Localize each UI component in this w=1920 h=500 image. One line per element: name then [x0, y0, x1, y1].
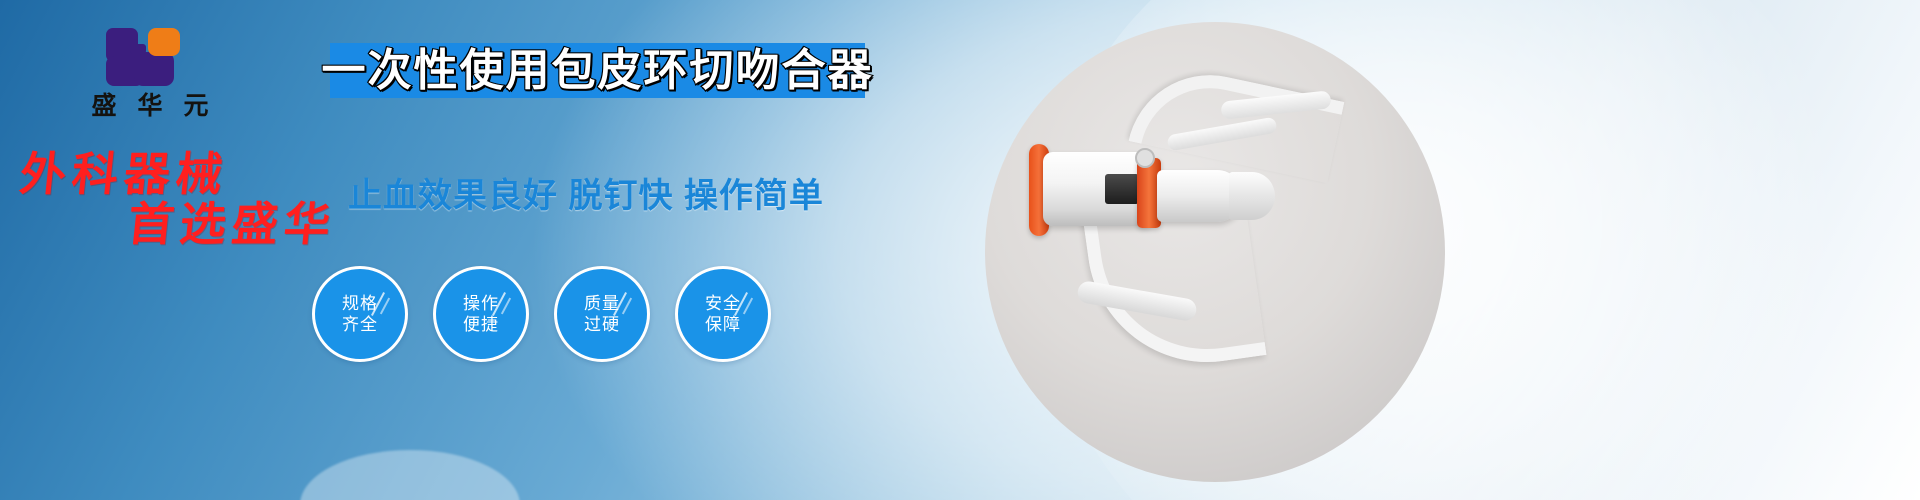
- slash-decoration-icon: [622, 298, 632, 315]
- slash-decoration-icon: [380, 298, 390, 315]
- feature-line-1: 质量: [584, 293, 620, 314]
- feature-circle[interactable]: 规格 齐全: [312, 266, 408, 362]
- logo-square-c: [134, 52, 174, 86]
- product-image: [985, 22, 1445, 482]
- promo-banner: 盛 华 元 外科器械 首选盛华 一次性使用包皮环切吻合器 止血效果良好 脱钉快 …: [0, 0, 1920, 500]
- slogan-line-1: 外科器械: [17, 150, 230, 198]
- feature-line-2: 齐全: [342, 314, 378, 335]
- feature-circle[interactable]: 安全 保障: [675, 266, 771, 362]
- product-pivot: [1135, 148, 1155, 168]
- feature-line-2: 便捷: [463, 314, 499, 335]
- calligraphy-slogan: 外科器械 首选盛华: [20, 150, 336, 249]
- brand-name: 盛 华 元: [60, 94, 240, 119]
- product-dark-band: [1105, 174, 1139, 204]
- logo-mark-icon: [104, 26, 196, 88]
- feature-circle-group: 规格 齐全 操作 便捷 质量 过硬 安全 保障: [312, 266, 771, 362]
- feature-circle[interactable]: 操作 便捷: [433, 266, 529, 362]
- logo-connector: [130, 44, 146, 54]
- feature-line-1: 操作: [463, 293, 499, 314]
- slash-decoration-icon: [501, 298, 511, 315]
- feature-line-1: 规格: [342, 293, 378, 314]
- feature-line-2: 保障: [705, 314, 741, 335]
- feature-line-1: 安全: [705, 293, 741, 314]
- feature-circle[interactable]: 质量 过硬: [554, 266, 650, 362]
- product-tip: [1229, 172, 1275, 220]
- subtitle: 止血效果良好 脱钉快 操作简单: [348, 168, 824, 217]
- logo-square-orange: [148, 28, 180, 56]
- slogan-line-2: 首选盛华: [125, 200, 338, 248]
- feature-line-2: 过硬: [584, 314, 620, 335]
- main-title-bar: 一次性使用包皮环切吻合器: [330, 43, 865, 98]
- bottom-arc-decoration: [300, 450, 520, 500]
- slash-decoration-icon: [743, 298, 753, 315]
- main-title: 一次性使用包皮环切吻合器: [322, 49, 874, 93]
- brand-logo[interactable]: 盛 华 元: [60, 26, 240, 119]
